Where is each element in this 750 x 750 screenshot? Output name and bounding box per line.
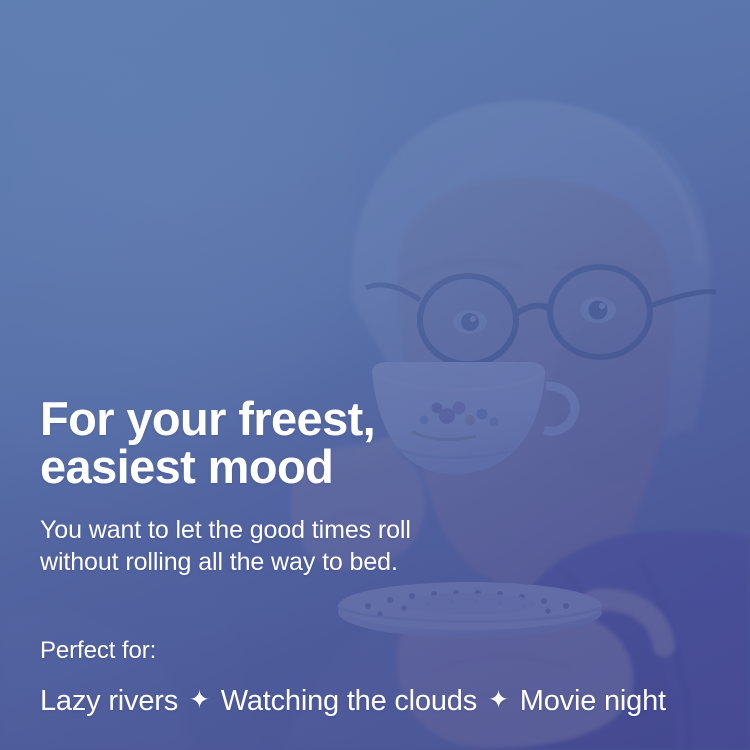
sparkle-icon: ✦ <box>189 688 210 713</box>
perfect-for-label: Perfect for: <box>40 636 156 666</box>
list-item: Watching the clouds <box>221 682 477 720</box>
card-content: For your freest, easiest mood You want t… <box>0 0 750 750</box>
list-item: Movie night <box>520 682 666 720</box>
page-title: For your freest, easiest mood <box>40 395 600 491</box>
sparkle-icon: ✦ <box>488 688 509 713</box>
use-cases-list: Lazy rivers ✦ Watching the clouds ✦ Movi… <box>40 682 666 720</box>
mood-card: For your freest, easiest mood You want t… <box>0 0 750 750</box>
subheadline-text: You want to let the good times roll with… <box>40 514 600 578</box>
list-item: Lazy rivers <box>40 682 178 720</box>
